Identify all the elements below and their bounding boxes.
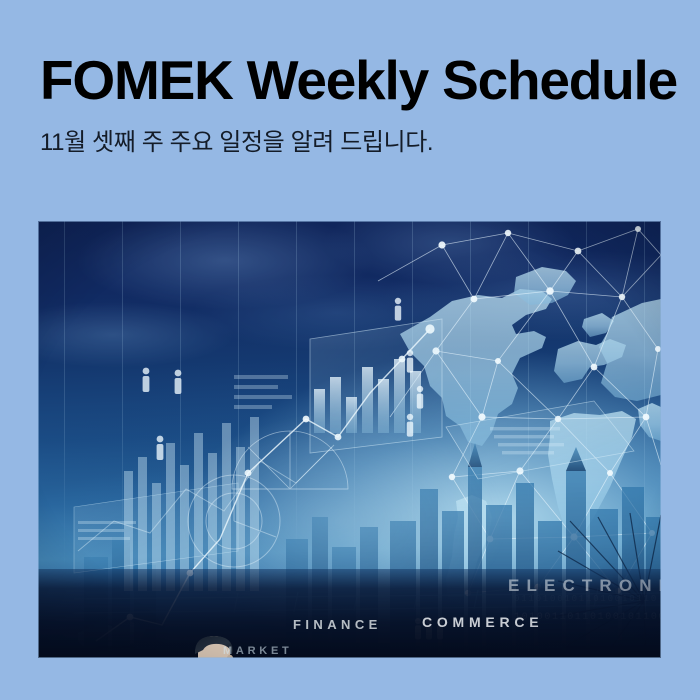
page-title: FOMEK Weekly Schedule xyxy=(40,52,670,108)
page-subtitle: 11월 셋째 주 주요 일정을 알려 드립니다. xyxy=(40,122,670,157)
hero-image: 10100110110100101100 0110100101101001011… xyxy=(38,221,661,658)
header: FOMEK Weekly Schedule 11월 셋째 주 주요 일정을 알려… xyxy=(40,52,670,157)
hero-border xyxy=(38,221,661,658)
